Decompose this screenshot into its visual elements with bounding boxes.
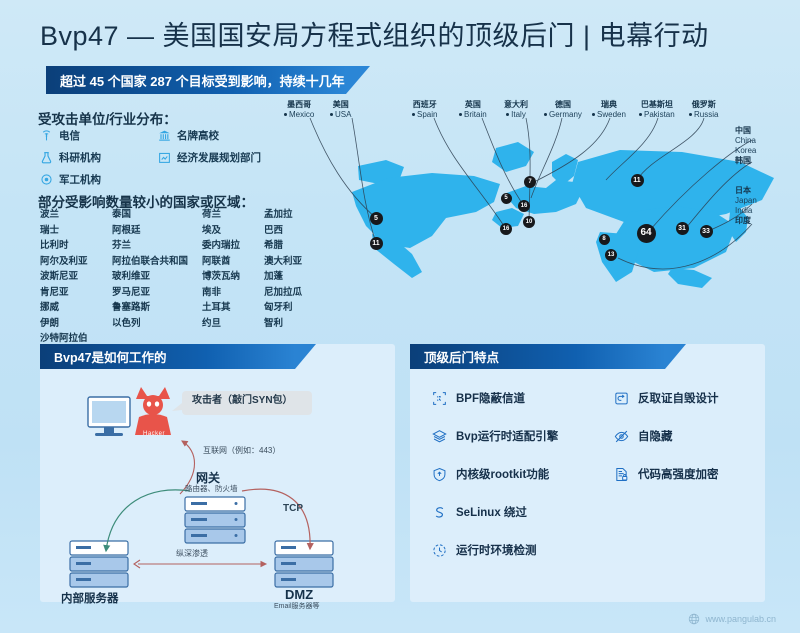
feature-label: Bvp运行时适配引擎 <box>456 428 558 444</box>
map-count-bubble: 33 <box>700 225 713 238</box>
minor-country: 波斯尼亚 <box>40 271 112 283</box>
country-label-en: Pakistan <box>639 110 675 120</box>
country-label-cn: 巴基斯坦 <box>639 100 675 110</box>
country-label-en: India <box>735 206 752 216</box>
gateway-subtitle: 路由器、防火墙 <box>185 483 238 494</box>
feature-label: 自隐藏 <box>638 428 673 444</box>
country-label-cn: 美国 <box>330 100 351 110</box>
how-it-works-heading-tail <box>295 344 316 369</box>
minor-country: 土耳其 <box>202 302 264 314</box>
map-landmasses <box>352 142 774 288</box>
dmz-server-icon <box>275 541 333 587</box>
map-count-bubble: 11 <box>370 237 383 250</box>
country-dot <box>284 113 287 116</box>
industry-heading: 受攻击单位/行业分布： <box>38 108 177 128</box>
feature-kernel-rootkit: 内核级rootkit功能 <box>432 466 607 482</box>
how-it-works-heading: Bvp47是如何工作的 <box>40 344 295 369</box>
country-label-cn: 俄罗斯 <box>689 100 718 110</box>
features-heading-tail <box>665 344 686 369</box>
industry-list: 电信 名牌高校 <box>40 128 310 194</box>
minor-country: 埃及 <box>202 225 264 237</box>
map-count-bubble: 31 <box>676 222 689 235</box>
industry-item-telecom: 电信 <box>40 128 158 143</box>
minor-country: 鲁塞路斯 <box>112 302 202 314</box>
industry-label: 军工机构 <box>59 172 101 187</box>
minor-countries-grid: 波兰泰国荷兰孟加拉瑞士阿根廷埃及巴西比利时芬兰委内瑞拉希腊阿尔及利亚阿拉伯联合共… <box>40 209 315 345</box>
industry-label: 电信 <box>59 128 80 143</box>
feature-label: 内核级rootkit功能 <box>456 466 549 482</box>
industry-item-military: 军工机构 <box>40 172 158 187</box>
impact-banner: 超过 45 个国家 287 个目标受到影响，持续十几年 <box>46 66 346 94</box>
feature-label: 代码高强度加密 <box>638 466 719 482</box>
minor-country: 挪威 <box>40 302 112 314</box>
industry-label: 经济发展规划部门 <box>177 150 261 165</box>
planning-icon <box>158 151 171 164</box>
map-count-bubble: 13 <box>605 249 617 261</box>
country-dot <box>639 113 642 116</box>
research-icon <box>40 151 53 164</box>
map-count-bubble: 16 <box>518 200 530 212</box>
country-label-cn: 瑞典 <box>592 100 626 110</box>
dmz-to-gateway-arrow <box>242 489 310 549</box>
minor-country: 芬兰 <box>112 240 202 252</box>
industry-row: 军工机构 <box>40 172 310 187</box>
impact-banner-tail <box>346 66 370 94</box>
feature-anti-forensics: 反取证自毁设计 <box>614 390 764 406</box>
map-country-label: 巴基斯坦Pakistan <box>639 100 675 120</box>
feature-selinux-bypass: SeLinux 绕过 <box>432 504 607 520</box>
country-dot <box>412 113 415 116</box>
industry-item-research: 科研机构 <box>40 150 158 165</box>
country-dot <box>506 113 509 116</box>
monitor-icon <box>88 397 130 436</box>
country-label-en: Italy <box>504 110 528 120</box>
gateway-server-icon <box>185 497 245 543</box>
country-label-en: Sweden <box>592 110 626 120</box>
lateral-movement-arrow <box>134 560 266 568</box>
layers-icon <box>432 429 447 444</box>
minor-country: 波兰 <box>40 209 112 221</box>
map-count-bubble: 10 <box>523 216 535 228</box>
minor-country: 罗马尼亚 <box>112 287 202 299</box>
country-label-en: USA <box>330 110 351 120</box>
footer: www.pangulab.cn <box>688 613 776 625</box>
industry-item-planning: 经济发展规划部门 <box>158 150 276 165</box>
map-country-label: 德国Germany <box>544 100 582 120</box>
runtime-detect-icon <box>432 543 447 558</box>
country-label-cn: 德国 <box>544 100 582 110</box>
how-it-works-panel: Bvp47是如何工作的 <box>40 344 395 602</box>
minor-country: 玻利维亚 <box>112 271 202 283</box>
map-count-bubble: 8 <box>599 234 610 245</box>
minor-country: 泰国 <box>112 209 202 221</box>
attack-flow-diagram: 攻击者（敲门SYN包） Hacker 互联网（例如：443） 网关 路由器、防火… <box>40 369 395 602</box>
country-dot <box>592 113 595 116</box>
minor-country: 以色列 <box>112 318 202 330</box>
country-label-cn: 印度 <box>735 216 752 226</box>
country-dot <box>689 113 692 116</box>
country-label-en: Russia <box>689 110 718 120</box>
map-count-bubble: 5 <box>501 193 512 204</box>
country-label-en: Spain <box>412 110 437 120</box>
map-country-label: 西班牙Spain <box>412 100 437 120</box>
country-label-cn: 日本 <box>735 186 757 196</box>
country-label-en: Japan <box>735 196 757 206</box>
internal-server-title: 内部服务器 <box>61 590 119 606</box>
dmz-title: DMZ <box>285 587 313 602</box>
feature-bpf-channel: BPF隐蔽信道 <box>432 390 607 406</box>
attacker-callout-label: 攻击者（敲门SYN包） <box>192 391 293 406</box>
feature-label: 运行时环境检测 <box>456 542 537 558</box>
globe-icon <box>688 613 700 625</box>
map-count-bubble: 7 <box>524 176 536 188</box>
country-label-en: Britain <box>459 110 487 120</box>
industry-row: 科研机构 经济发展规划部门 <box>40 150 310 165</box>
features-column-right: 反取证自毁设计 自隐藏 <box>614 390 764 504</box>
minor-country: 委内瑞拉 <box>202 240 264 252</box>
hacker-icon <box>135 387 171 435</box>
map-count-bubble: 11 <box>631 174 644 187</box>
map-country-label: 日本Japan <box>735 186 757 206</box>
country-dot <box>330 113 333 116</box>
map-count-bubble: 5 <box>370 212 383 225</box>
country-label-en: China <box>735 136 756 146</box>
page-title: Bvp47 — 美国国安局方程式组织的顶级后门 | 电幕行动 <box>40 14 770 53</box>
minor-country: 阿根廷 <box>112 225 202 237</box>
university-icon <box>158 129 171 142</box>
map-country-label: 墨西哥Mexico <box>284 100 314 120</box>
lateral-label: 纵深渗透 <box>176 548 208 559</box>
minor-country: 阿尔及利亚 <box>40 256 112 268</box>
internal-server-icon <box>70 541 128 587</box>
minor-country: 阿联酋 <box>202 256 264 268</box>
bpf-channel-icon <box>432 391 447 406</box>
map-country-label: 俄罗斯Russia <box>689 100 718 120</box>
military-icon <box>40 173 53 186</box>
minor-country: 南非 <box>202 287 264 299</box>
feature-label: BPF隐蔽信道 <box>456 390 525 406</box>
map-country-label: 意大利Italy <box>504 100 528 120</box>
country-dot <box>544 113 547 116</box>
country-label-en: Korea <box>735 146 756 156</box>
map-country-label: 中国China <box>735 126 756 146</box>
anti-forensics-icon <box>614 391 629 406</box>
map-country-label: 英国Britain <box>459 100 487 120</box>
dmz-subtitle: Email服务器等 <box>274 601 320 611</box>
feature-code-encryption: 代码高强度加密 <box>614 466 764 482</box>
country-label-cn: 中国 <box>735 126 756 136</box>
map-country-label: Korea韩国 <box>735 146 756 166</box>
world-map: 墨西哥Mexico美国USA西班牙Spain英国Britain意大利Italy德… <box>300 100 800 335</box>
features-column-left: BPF隐蔽信道 Bvp运行时适配引擎 <box>432 390 607 580</box>
feature-runtime-engine: Bvp运行时适配引擎 <box>432 428 607 444</box>
backdoor-features-panel: 顶级后门特点 BPF隐蔽信道 <box>410 344 765 602</box>
minor-country: 伊朗 <box>40 318 112 330</box>
internet-label: 互联网（例如：443） <box>203 445 280 456</box>
selinux-icon <box>432 505 447 520</box>
minor-country: 比利时 <box>40 240 112 252</box>
eye-hidden-icon <box>614 429 629 444</box>
feature-label: SeLinux 绕过 <box>456 504 527 520</box>
country-label-cn: 墨西哥 <box>284 100 314 110</box>
minor-country: 博茨瓦纳 <box>202 271 264 283</box>
map-country-label: 瑞典Sweden <box>592 100 626 120</box>
minor-country: 约旦 <box>202 318 264 330</box>
country-label-cn: 韩国 <box>735 156 756 166</box>
kernel-shield-icon <box>432 467 447 482</box>
encrypted-doc-icon <box>614 467 629 482</box>
minor-country: 阿拉伯联合共和国 <box>112 256 202 268</box>
industry-label: 科研机构 <box>59 150 101 165</box>
tcp-label: TCP <box>283 503 303 514</box>
industry-row: 电信 名牌高校 <box>40 128 310 143</box>
features-heading: 顶级后门特点 <box>410 344 665 369</box>
feature-self-hiding: 自隐藏 <box>614 428 764 444</box>
country-dot <box>459 113 462 116</box>
footer-url: www.pangulab.cn <box>705 614 776 624</box>
country-label-en: Germany <box>544 110 582 120</box>
feature-runtime-detection: 运行时环境检测 <box>432 542 607 558</box>
country-label-cn: 意大利 <box>504 100 528 110</box>
feature-label: 反取证自毁设计 <box>638 390 719 406</box>
map-country-label: 美国USA <box>330 100 351 120</box>
map-count-bubble: 16 <box>500 223 512 235</box>
infographic-poster: Bvp47 — 美国国安局方程式组织的顶级后门 | 电幕行动 超过 45 个国家… <box>0 0 800 633</box>
map-count-bubble: 64 <box>637 224 656 243</box>
hacker-caption: Hacker <box>143 431 165 437</box>
industry-label: 名牌高校 <box>177 128 219 143</box>
minor-country: 肯尼亚 <box>40 287 112 299</box>
minor-country: 瑞士 <box>40 225 112 237</box>
countries-heading: 部分受影响数量较小的国家或区域： <box>38 191 254 211</box>
country-label-cn: 西班牙 <box>412 100 437 110</box>
minor-country: 荷兰 <box>202 209 264 221</box>
map-country-label: India印度 <box>735 206 752 226</box>
industry-item-university: 名牌高校 <box>158 128 276 143</box>
country-label-en: Mexico <box>284 110 314 120</box>
country-label-cn: 英国 <box>459 100 487 110</box>
telecom-icon <box>40 129 53 142</box>
